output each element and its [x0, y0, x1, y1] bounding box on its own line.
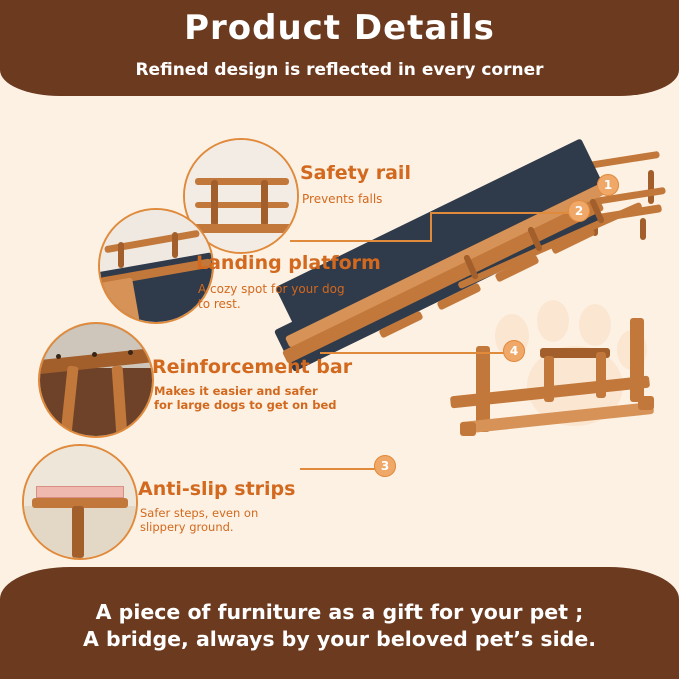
callout-title-reinforcement-bar: Reinforcement bar — [152, 356, 352, 378]
thumb-reinforcement-bar — [38, 322, 154, 438]
callout-desc-safety-rail: Prevents falls — [302, 192, 382, 207]
page-subtitle: Refined design is reflected in every cor… — [0, 60, 679, 80]
connector-line-safety-rail-v — [430, 212, 432, 240]
callout-desc-landing-platform-text: A cozy spot for your dog to rest. — [198, 282, 345, 311]
callout-desc-reinforcement-bar-text: Makes it easier and safer for large dogs… — [154, 384, 337, 412]
connector-line-safety-rail2 — [290, 240, 432, 242]
page-title: Product Details — [0, 8, 679, 48]
callout-desc-reinforcement-bar: Makes it easier and safer for large dogs… — [154, 384, 337, 413]
connector-line-reinforcement — [320, 352, 516, 354]
product-details-infographic: Product Details Refined design is reflec… — [0, 0, 679, 679]
footer-line-2: A bridge, always by your beloved pet’s s… — [0, 627, 679, 651]
footer-band: A piece of furniture as a gift for your … — [0, 567, 679, 679]
callout-desc-anti-slip-strips-text: Safer steps, even on slippery ground. — [140, 506, 258, 534]
header-band: Product Details Refined design is reflec… — [0, 0, 679, 96]
callout-title-landing-platform: Landing platform — [196, 252, 381, 274]
callout-title-safety-rail: Safety rail — [300, 162, 411, 184]
callout-desc-anti-slip-strips: Safer steps, even on slippery ground. — [140, 506, 258, 535]
thumb-anti-slip-strips — [22, 444, 138, 560]
badge-2: 2 — [568, 200, 590, 222]
connector-line-antislip — [300, 468, 378, 470]
footer-line-1: A piece of furniture as a gift for your … — [0, 600, 679, 624]
badge-3: 3 — [374, 455, 396, 477]
badge-1: 1 — [597, 174, 619, 196]
connector-line-safety-rail — [430, 212, 590, 214]
callout-title-anti-slip-strips: Anti-slip strips — [138, 478, 295, 500]
callout-desc-landing-platform: A cozy spot for your dog to rest. — [198, 282, 345, 312]
badge-4: 4 — [503, 340, 525, 362]
